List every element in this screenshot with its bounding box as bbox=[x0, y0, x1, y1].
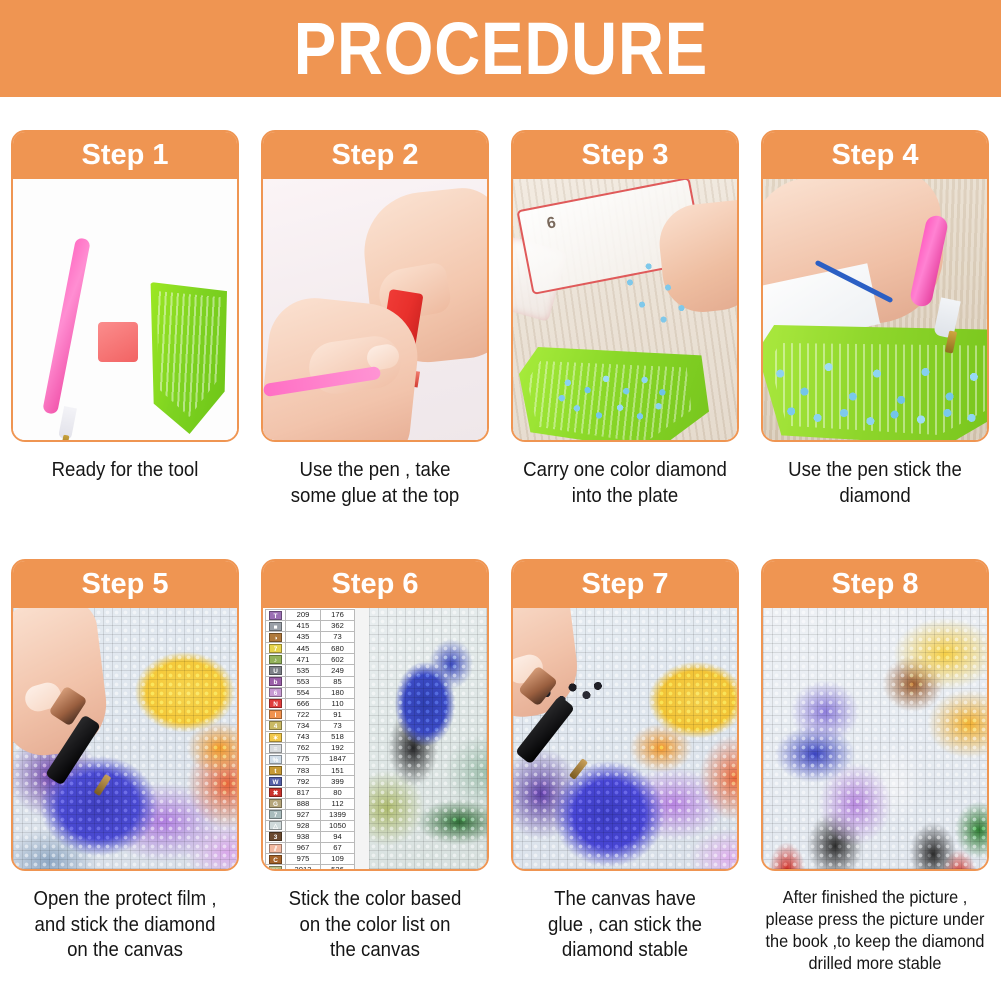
color-symbol-cell: 6 bbox=[266, 687, 286, 698]
dmc-code-cell: 928 bbox=[286, 820, 321, 831]
dmc-code-cell: 553 bbox=[286, 676, 321, 687]
bead-count-cell: 67 bbox=[321, 842, 355, 853]
color-symbol-cell: G bbox=[266, 798, 286, 809]
procedure-infographic: PROCEDURE Step 1 Ready for the to bbox=[0, 0, 1001, 1001]
step-image-1 bbox=[13, 179, 237, 440]
bead-count-cell: 192 bbox=[321, 743, 355, 754]
dmc-code-cell: 775 bbox=[286, 754, 321, 765]
dmc-code-cell: 792 bbox=[286, 776, 321, 787]
step-header-8: Step 8 bbox=[763, 561, 987, 608]
color-swatch-icon: 4 bbox=[269, 721, 282, 730]
bead-count-cell: 399 bbox=[321, 776, 355, 787]
step-cell-6: Step 6 T209176■415362◑435737445680♪47160… bbox=[250, 559, 500, 975]
bead-count-cell: 249 bbox=[321, 665, 355, 676]
color-swatch-icon: b bbox=[269, 677, 282, 686]
color-symbol-cell: 7 bbox=[266, 809, 286, 820]
color-symbol-cell: 3 bbox=[266, 831, 286, 842]
step-caption-4: Use the pen stick thediamond bbox=[767, 458, 983, 509]
step-caption-8: After finished the picture ,please press… bbox=[762, 887, 989, 975]
chart-and-canvas: T209176■415362◑435737445680♪471602U53524… bbox=[263, 608, 487, 869]
step-caption-2: Use the pen , takesome glue at the top bbox=[267, 458, 483, 509]
bead-count-cell: 602 bbox=[321, 654, 355, 665]
bead-count-cell: 94 bbox=[321, 831, 355, 842]
step-caption-6: Stick the color basedon the color list o… bbox=[267, 887, 483, 964]
color-swatch-icon: % bbox=[269, 755, 282, 764]
color-swatch-icon: N bbox=[269, 699, 282, 708]
color-legend-row: ⫽96767 bbox=[266, 842, 355, 853]
color-symbol-cell: T bbox=[266, 610, 286, 621]
bead-count-cell: 151 bbox=[321, 765, 355, 776]
dmc-code-cell: 554 bbox=[286, 687, 321, 698]
color-swatch-icon: = bbox=[269, 744, 282, 753]
color-symbol-cell: Y bbox=[266, 865, 286, 869]
dmc-code-cell: 415 bbox=[286, 621, 321, 632]
step-card-5: Step 5 bbox=[11, 559, 239, 871]
step-caption-1: Ready for the tool bbox=[17, 458, 233, 484]
dmc-code-cell: 666 bbox=[286, 698, 321, 709]
bead-count-cell: 110 bbox=[321, 698, 355, 709]
color-legend-row: ♪471602 bbox=[266, 654, 355, 665]
color-symbol-cell: 4 bbox=[266, 720, 286, 731]
color-symbol-cell: t bbox=[266, 765, 286, 776]
dmc-code-cell: 722 bbox=[286, 709, 321, 720]
dmc-code-cell: 471 bbox=[286, 654, 321, 665]
dmc-code-cell: 783 bbox=[286, 765, 321, 776]
bead-count-cell: 1050 bbox=[321, 820, 355, 831]
color-symbol-cell: C bbox=[266, 854, 286, 865]
step-card-1: Step 1 bbox=[11, 130, 239, 442]
bead-count-cell: 1847 bbox=[321, 754, 355, 765]
page-title: PROCEDURE bbox=[293, 12, 707, 86]
color-swatch-icon: 7 bbox=[269, 644, 282, 653]
legend-canvas-gap bbox=[355, 608, 369, 869]
step-header-6: Step 6 bbox=[263, 561, 487, 608]
wax-block-icon bbox=[98, 322, 138, 362]
step-card-4: Step 4 bbox=[761, 130, 989, 442]
step-card-3: Step 3 6 bbox=[511, 130, 739, 442]
bead-count-cell: 180 bbox=[321, 687, 355, 698]
step-cell-5: Step 5 Open the protect film ,and stick … bbox=[0, 559, 250, 975]
dmc-code-cell: 927 bbox=[286, 809, 321, 820]
color-legend-row: %7751847 bbox=[266, 754, 355, 765]
color-symbol-cell: N bbox=[266, 698, 286, 709]
step-cell-7: Step 7 The canvas haveglue , c bbox=[500, 559, 750, 975]
glue-photo bbox=[263, 179, 487, 440]
color-swatch-icon: G bbox=[269, 799, 282, 808]
color-legend-row: ✶743518 bbox=[266, 732, 355, 743]
step-header-4: Step 4 bbox=[763, 132, 987, 179]
color-swatch-icon: C bbox=[269, 855, 282, 864]
dmc-code-cell: 209 bbox=[286, 610, 321, 621]
color-legend-row: t783151 bbox=[266, 765, 355, 776]
dmc-code-cell: 435 bbox=[286, 632, 321, 643]
color-legend-row: 473473 bbox=[266, 720, 355, 731]
color-legend-row: Y3013526 bbox=[266, 865, 355, 869]
color-swatch-icon: I bbox=[269, 710, 282, 719]
step-cell-2: Step 2 Use the pen , takesome glue at th… bbox=[250, 130, 500, 509]
step-image-4 bbox=[763, 179, 987, 440]
dmc-code-cell: 535 bbox=[286, 665, 321, 676]
color-legend-row: ■415362 bbox=[266, 621, 355, 632]
color-swatch-icon: ■ bbox=[269, 622, 282, 631]
color-swatch-icon: T bbox=[269, 611, 282, 620]
step-image-8 bbox=[763, 608, 987, 869]
color-legend-row: b55385 bbox=[266, 676, 355, 687]
color-legend-row: I72291 bbox=[266, 709, 355, 720]
color-legend-row: 393894 bbox=[266, 831, 355, 842]
color-legend-row: U535249 bbox=[266, 665, 355, 676]
dmc-code-cell: 734 bbox=[286, 720, 321, 731]
color-legend-row: ◑43573 bbox=[266, 632, 355, 643]
color-swatch-icon: Y bbox=[269, 866, 282, 869]
step-header-1: Step 1 bbox=[13, 132, 237, 179]
color-legend-row: 79271399 bbox=[266, 809, 355, 820]
color-swatch-icon: △ bbox=[269, 821, 282, 830]
step-header-5: Step 5 bbox=[13, 561, 237, 608]
bead-count-cell: 80 bbox=[321, 787, 355, 798]
canvas-photo-7 bbox=[513, 608, 737, 869]
steps-row-2: Step 5 Open the protect film ,and stick … bbox=[0, 559, 1001, 975]
dmc-code-cell: 762 bbox=[286, 743, 321, 754]
color-legend-row: △9281050 bbox=[266, 820, 355, 831]
step-cell-4: Step 4 Use the pe bbox=[750, 130, 1000, 509]
pickup-photo bbox=[763, 179, 987, 440]
color-symbol-cell: ⫽ bbox=[266, 842, 286, 853]
color-symbol-cell: U bbox=[266, 665, 286, 676]
color-symbol-cell: △ bbox=[266, 820, 286, 831]
step-cell-3: Step 3 6 Carry one color diamon bbox=[500, 130, 750, 509]
dmc-code-cell: 888 bbox=[286, 798, 321, 809]
color-swatch-icon: W bbox=[269, 777, 282, 786]
falling-beads bbox=[612, 252, 696, 336]
color-legend-row: W792399 bbox=[266, 776, 355, 787]
bead-count-cell: 112 bbox=[321, 798, 355, 809]
bead-highlights bbox=[369, 608, 487, 869]
bead-count-cell: 73 bbox=[321, 632, 355, 643]
color-symbol-cell: I bbox=[266, 709, 286, 720]
dmc-code-cell: 445 bbox=[286, 643, 321, 654]
dmc-code-cell: 743 bbox=[286, 732, 321, 743]
step-cell-8: Step 8 After finished the picture ,pleas… bbox=[750, 559, 1000, 975]
color-swatch-icon: U bbox=[269, 666, 282, 675]
step-caption-3: Carry one color diamondinto the plate bbox=[517, 458, 733, 509]
step-caption-7: The canvas haveglue , can stick thediamo… bbox=[517, 887, 733, 964]
color-symbol-cell: W bbox=[266, 776, 286, 787]
color-swatch-icon: 7 bbox=[269, 810, 282, 819]
step-image-7 bbox=[513, 608, 737, 869]
step-image-3: 6 bbox=[513, 179, 737, 440]
color-legend-row: 6554180 bbox=[266, 687, 355, 698]
blue-beads bbox=[555, 363, 679, 433]
step-cell-1: Step 1 Ready for the tool bbox=[0, 130, 250, 509]
bead-count-cell: 680 bbox=[321, 643, 355, 654]
step-image-2 bbox=[263, 179, 487, 440]
color-legend-row: G888112 bbox=[266, 798, 355, 809]
color-legend-row: ✖81780 bbox=[266, 787, 355, 798]
bead-count-cell: 362 bbox=[321, 621, 355, 632]
color-swatch-icon: 6 bbox=[269, 688, 282, 697]
color-symbol-cell: ♪ bbox=[266, 654, 286, 665]
color-swatch-icon: 3 bbox=[269, 832, 282, 841]
color-legend-row: 7445680 bbox=[266, 643, 355, 654]
step-card-7: Step 7 bbox=[511, 559, 739, 871]
dmc-code-cell: 967 bbox=[286, 842, 321, 853]
dmc-code-cell: 938 bbox=[286, 831, 321, 842]
bead-count-cell: 526 bbox=[321, 865, 355, 869]
bead-count-cell: 176 bbox=[321, 610, 355, 621]
color-swatch-icon: ◑ bbox=[269, 633, 282, 642]
step-header-2: Step 2 bbox=[263, 132, 487, 179]
dmc-code-cell: 975 bbox=[286, 854, 321, 865]
color-symbol-cell: ◑ bbox=[266, 632, 286, 643]
bead-count-cell: 109 bbox=[321, 854, 355, 865]
bead-count-cell: 1399 bbox=[321, 809, 355, 820]
color-legend-row: =762192 bbox=[266, 743, 355, 754]
color-symbol-cell: % bbox=[266, 754, 286, 765]
blue-beads bbox=[767, 349, 987, 431]
color-swatch-icon: ⫽ bbox=[269, 844, 282, 853]
step-caption-5: Open the protect film ,and stick the dia… bbox=[17, 887, 233, 964]
finished-painting-photo bbox=[763, 608, 987, 869]
color-swatch-icon: t bbox=[269, 766, 282, 775]
step-header-3: Step 3 bbox=[513, 132, 737, 179]
step-image-5 bbox=[13, 608, 237, 869]
bead-count-cell: 91 bbox=[321, 709, 355, 720]
canvas-photo-5 bbox=[13, 608, 237, 869]
color-legend-row: T209176 bbox=[266, 610, 355, 621]
color-symbol-cell: b bbox=[266, 676, 286, 687]
step-card-8: Step 8 bbox=[761, 559, 989, 871]
step-card-2: Step 2 bbox=[261, 130, 489, 442]
bead-count-cell: 85 bbox=[321, 676, 355, 687]
color-symbol-cell: 7 bbox=[266, 643, 286, 654]
dmc-code-cell: 3013 bbox=[286, 865, 321, 869]
bead-highlights bbox=[763, 608, 987, 869]
color-symbol-cell: = bbox=[266, 743, 286, 754]
color-swatch-icon: ♪ bbox=[269, 655, 282, 664]
color-symbol-cell: ✖ bbox=[266, 787, 286, 798]
color-legend-row: N666110 bbox=[266, 698, 355, 709]
dmc-code-cell: 817 bbox=[286, 787, 321, 798]
color-symbol-cell: ■ bbox=[266, 621, 286, 632]
color-symbol-cell: ✶ bbox=[266, 732, 286, 743]
step-image-6: T209176■415362◑435737445680♪471602U53524… bbox=[263, 608, 487, 869]
color-swatch-icon: ✶ bbox=[269, 733, 282, 742]
bead-count-cell: 518 bbox=[321, 732, 355, 743]
pour-photo: 6 bbox=[513, 179, 737, 440]
page-banner: PROCEDURE bbox=[0, 0, 1001, 97]
color-legend-row: C975109 bbox=[266, 854, 355, 865]
color-swatch-icon: ✖ bbox=[269, 788, 282, 797]
color-legend: T209176■415362◑435737445680♪471602U53524… bbox=[263, 608, 355, 869]
canvas-photo-6 bbox=[369, 608, 487, 869]
step-card-6: Step 6 T209176■415362◑435737445680♪47160… bbox=[261, 559, 489, 871]
color-legend-table: T209176■415362◑435737445680♪471602U53524… bbox=[265, 609, 355, 869]
steps-row-1: Step 1 Ready for the tool Step 2 bbox=[0, 130, 1001, 509]
tools-photo bbox=[13, 179, 237, 440]
pink-pen-icon bbox=[42, 237, 91, 415]
bead-count-cell: 73 bbox=[321, 720, 355, 731]
step-header-7: Step 7 bbox=[513, 561, 737, 608]
